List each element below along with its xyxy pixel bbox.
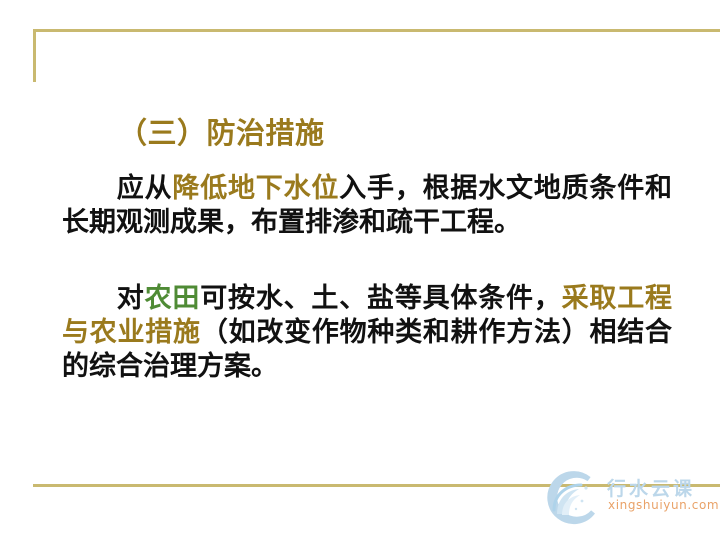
paragraph-two-run-2: 农田 [145,283,201,314]
logo-url: xingshuiyun.com [608,498,719,512]
decorative-rule-left [33,29,36,82]
slide-canvas: （三）防治措施 应从降低地下水位入手，根据水文地质条件和长期观测成果，布置排渗和… [0,0,720,540]
decorative-rule-top [33,29,720,32]
watermark-logo: 行水云课 xingshuiyun.com [543,468,715,530]
logo-chinese-name: 行水云课 [607,474,695,501]
water-wave-icon [543,468,603,528]
paragraph-one-run-1: 应从 [116,173,172,204]
slide-title: （三）防治措施 [118,117,325,149]
paragraph-one: 应从降低地下水位入手，根据水文地质条件和长期观测成果，布置排渗和疏干工程。 [62,172,672,240]
paragraph-one-run-2: 降低地下水位 [172,173,339,204]
paragraph-two-run-1: 对 [116,283,145,314]
paragraph-two-run-3: 可按水、土、盐等具体条件， [200,283,561,314]
paragraph-two: 对农田可按水、土、盐等具体条件，采取工程与农业措施（如改变作物种类和耕作方法）相… [62,282,672,384]
